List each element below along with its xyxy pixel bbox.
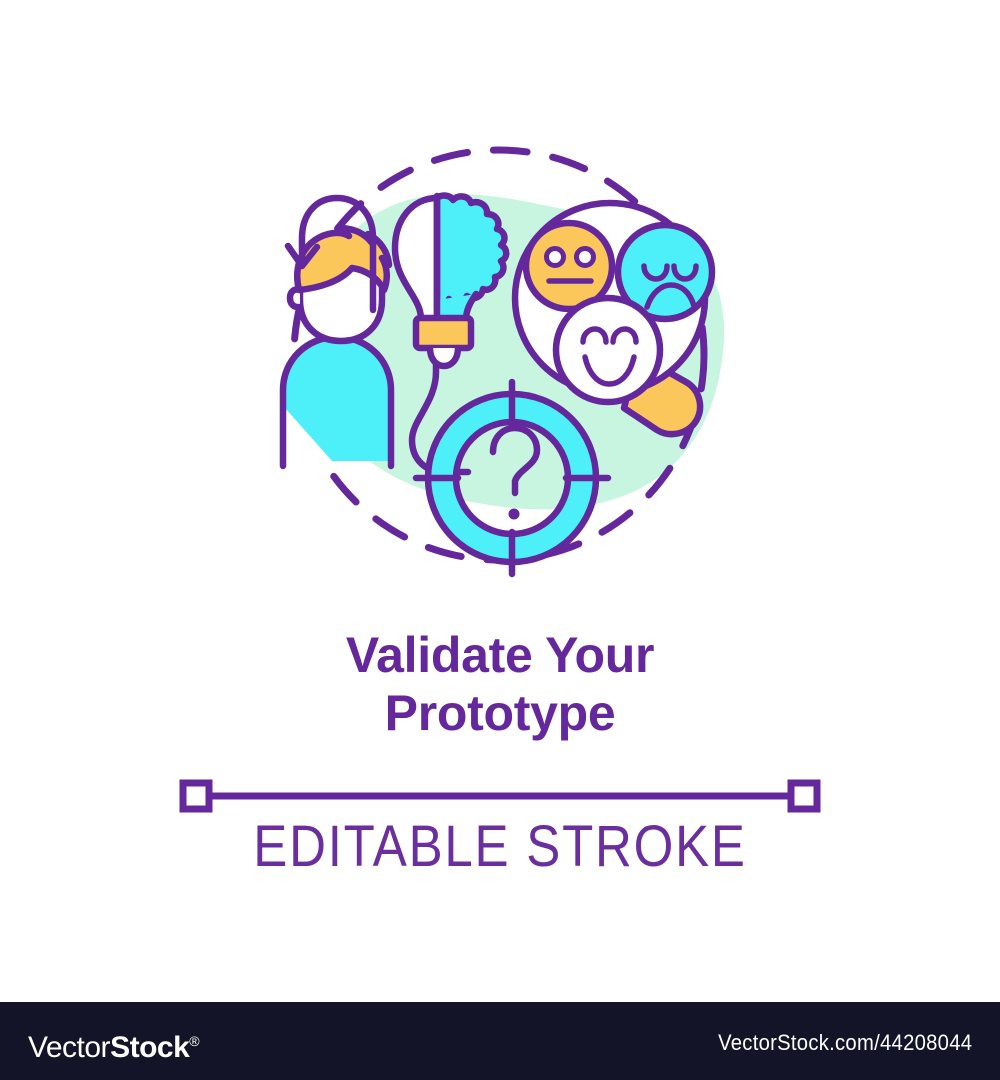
concept-icon-canvas: Validate Your Prototype EDITABLE STROKE … <box>0 0 1000 1080</box>
illustration-area <box>0 0 1000 620</box>
bulb-tip <box>430 348 458 366</box>
happy-face <box>556 298 660 402</box>
vectorstock-logo: VectorStock® <box>28 1026 199 1063</box>
watermark-footer: VectorStock® VectorStock.com/44208044 <box>0 1002 1000 1080</box>
neutral-face-eye-left <box>547 249 564 266</box>
logo-text-stock: Stock <box>110 1031 189 1064</box>
vectorstock-url: VectorStock.com/44208044 <box>718 1032 972 1054</box>
neutral-face-eye-right <box>577 249 594 266</box>
registered-trademark-icon: ® <box>189 1033 199 1049</box>
logo-text-vector: Vector <box>28 1031 110 1064</box>
page-title: Validate Your Prototype <box>0 626 1000 742</box>
square-handle-left[interactable] <box>183 783 209 809</box>
editable-stroke-label: EDITABLE STROKE <box>60 815 940 879</box>
bulb-base <box>416 318 471 348</box>
concept-illustration-svg <box>0 0 1000 620</box>
title-line-2: Prototype <box>0 684 1000 742</box>
title-line-1: Validate Your <box>0 626 1000 684</box>
square-handle-right[interactable] <box>791 783 817 809</box>
question-mark-dot <box>509 509 520 520</box>
